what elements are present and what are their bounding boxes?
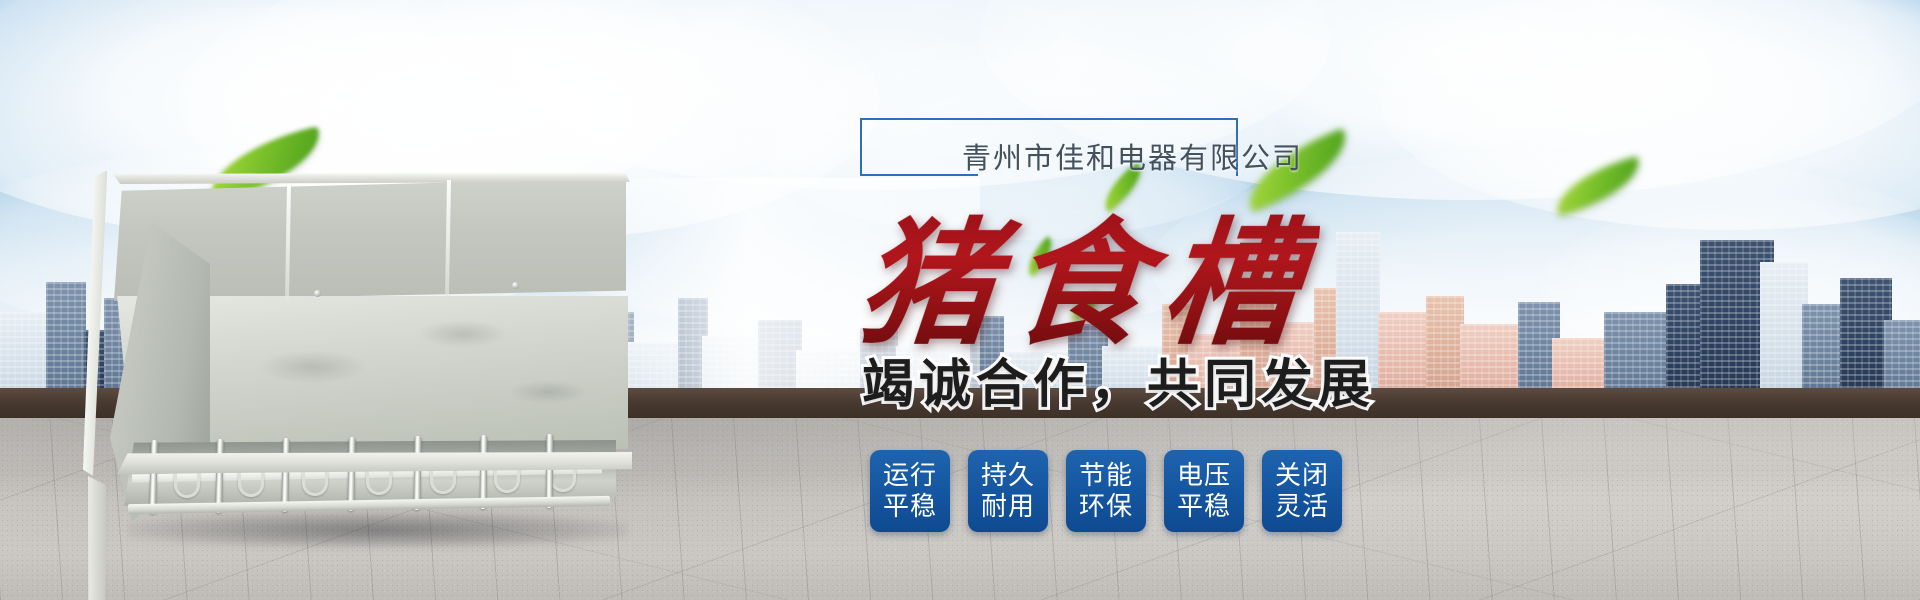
feature-badge[interactable]: 电压 平稳 xyxy=(1164,450,1244,532)
trough-right-edge-highlight xyxy=(88,476,106,600)
feature-badge-list: 运行 平稳 持久 耐用 节能 环保 电压 平稳 关闭 灵活 xyxy=(870,450,1342,532)
feature-badge[interactable]: 节能 环保 xyxy=(1066,450,1146,532)
badge-line-1: 关闭 xyxy=(1275,460,1329,491)
badge-line-1: 节能 xyxy=(1079,460,1133,491)
surface-smudge xyxy=(258,350,368,384)
company-name: 青州市佳和电器有限公司 xyxy=(962,135,1303,177)
subtitle-slogan: 竭诚合作，共同发展 xyxy=(862,342,1375,417)
badge-line-2: 耐用 xyxy=(981,491,1035,522)
frame-line-top xyxy=(860,118,1238,120)
badge-line-1: 持久 xyxy=(981,460,1035,491)
feature-badge[interactable]: 持久 耐用 xyxy=(968,450,1048,532)
badge-line-2: 灵活 xyxy=(1275,491,1329,522)
surface-smudge xyxy=(508,380,588,404)
rivet xyxy=(314,290,321,297)
product-image-pig-feeding-trough xyxy=(88,170,648,540)
badge-line-1: 运行 xyxy=(883,460,937,491)
skyscraper xyxy=(1760,262,1808,408)
promo-banner: 青州市佳和电器有限公司 猪食槽 竭诚合作，共同发展 运行 平稳 持久 耐用 节能… xyxy=(0,0,1920,600)
surface-smudge xyxy=(418,320,508,348)
badge-line-1: 电压 xyxy=(1177,460,1231,491)
rivet xyxy=(512,282,519,289)
badge-line-2: 环保 xyxy=(1079,491,1133,522)
frame-line-left xyxy=(860,118,862,176)
trough-body xyxy=(88,170,648,540)
feature-badge[interactable]: 关闭 灵活 xyxy=(1262,450,1342,532)
badge-line-2: 平稳 xyxy=(883,491,937,522)
badge-line-2: 平稳 xyxy=(1177,491,1231,522)
feature-badge[interactable]: 运行 平稳 xyxy=(870,450,950,532)
